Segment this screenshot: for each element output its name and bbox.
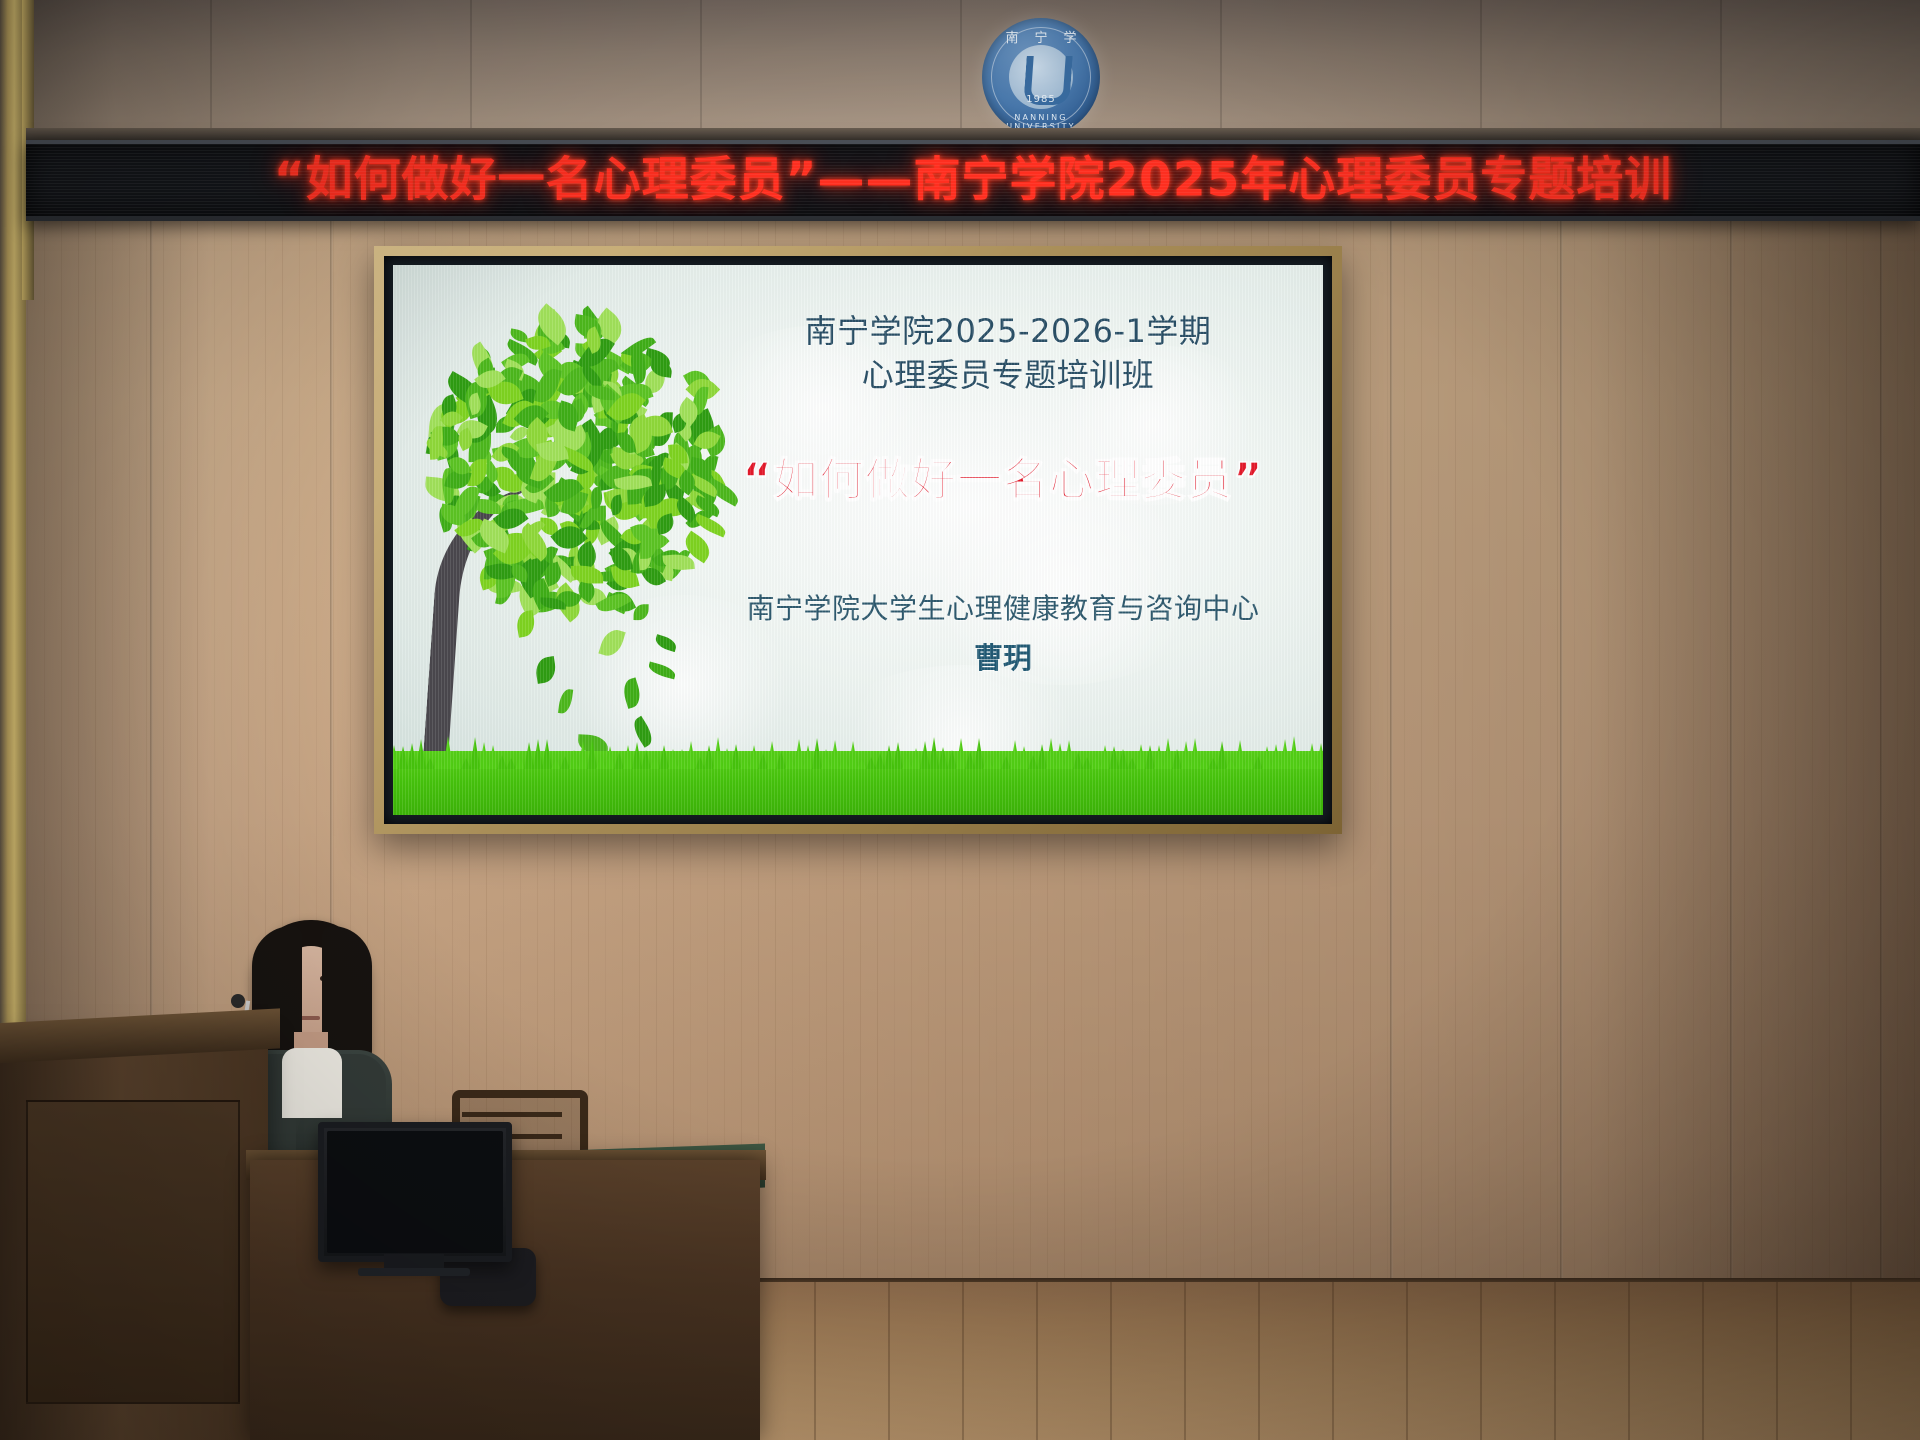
floor-plank (1480, 1282, 1482, 1440)
wall-grain (1404, 150, 1405, 1290)
lectern (0, 1040, 268, 1440)
wall-grain (1421, 150, 1422, 1290)
floor-plank (1702, 1282, 1704, 1440)
wall-grain (1574, 150, 1575, 1290)
floor-plank (814, 1282, 816, 1440)
slide-heading: 南宁学院2025-2026-1学期 心理委员专题培训班 (723, 309, 1293, 397)
wall-grain (1506, 150, 1507, 1290)
wall-grain (1353, 150, 1354, 1290)
monitor-base (358, 1268, 470, 1276)
presentation-slide: 南宁学院2025-2026-1学期 心理委员专题培训班 “如何做好一名心理委员”… (393, 265, 1323, 815)
floor-plank (1110, 1282, 1112, 1440)
slide-heading-line-2: 心理委员专题培训班 (723, 353, 1293, 397)
wall-grain (1438, 150, 1439, 1290)
slide-heading-line-1: 南宁学院2025-2026-1学期 (723, 309, 1293, 353)
wall-grain (1489, 150, 1490, 1290)
floor-plank (1628, 1282, 1630, 1440)
led-banner-text: “如何做好一名心理委员”——南宁学院2025年心理委员专题培训 (274, 157, 1673, 204)
floor-plank (1036, 1282, 1038, 1440)
auditorium-scene: 南宁学院 1985 NANNING UNIVERSITY “如何做好一名心理委员… (0, 0, 1920, 1440)
wall-grain (1387, 150, 1388, 1290)
slide-organization: 南宁学院大学生心理健康教育与咨询中心 (693, 587, 1313, 627)
floor-plank (962, 1282, 964, 1440)
wall-grain (1455, 150, 1456, 1290)
wall-grain (1370, 150, 1371, 1290)
lectern-panel (26, 1100, 240, 1404)
floor-plank (1258, 1282, 1260, 1440)
presenter-shirt (282, 1048, 342, 1118)
slide-presenter-name: 曹玥 (693, 635, 1313, 677)
wall-grain (1472, 150, 1473, 1290)
wall-grain (1540, 150, 1541, 1290)
wall-shadow-right (1590, 150, 1920, 1290)
floor-plank (888, 1282, 890, 1440)
monitor-screen (327, 1131, 503, 1253)
floor-plank (1850, 1282, 1852, 1440)
logo-year: 1985 (982, 94, 1100, 105)
presenter-mouth (300, 1016, 320, 1020)
floor-plank (1554, 1282, 1556, 1440)
wall-grain (1557, 150, 1558, 1290)
wall-panel-seam (1560, 150, 1563, 1290)
confidence-monitor (318, 1122, 512, 1262)
microphone-head-icon (231, 994, 245, 1008)
chair-slat (462, 1112, 562, 1117)
floor-plank (1406, 1282, 1408, 1440)
wall-panel-seam (1390, 150, 1393, 1290)
wall-grain (1523, 150, 1524, 1290)
floor-plank (1776, 1282, 1778, 1440)
floor-plank (1332, 1282, 1334, 1440)
grass-blade (1316, 743, 1323, 769)
university-logo: 南宁学院 1985 NANNING UNIVERSITY (982, 18, 1100, 136)
floor-plank (1184, 1282, 1186, 1440)
led-banner: “如何做好一名心理委员”——南宁学院2025年心理委员专题培训 (26, 140, 1920, 221)
slide-title: “如何做好一名心理委员” (693, 443, 1313, 508)
